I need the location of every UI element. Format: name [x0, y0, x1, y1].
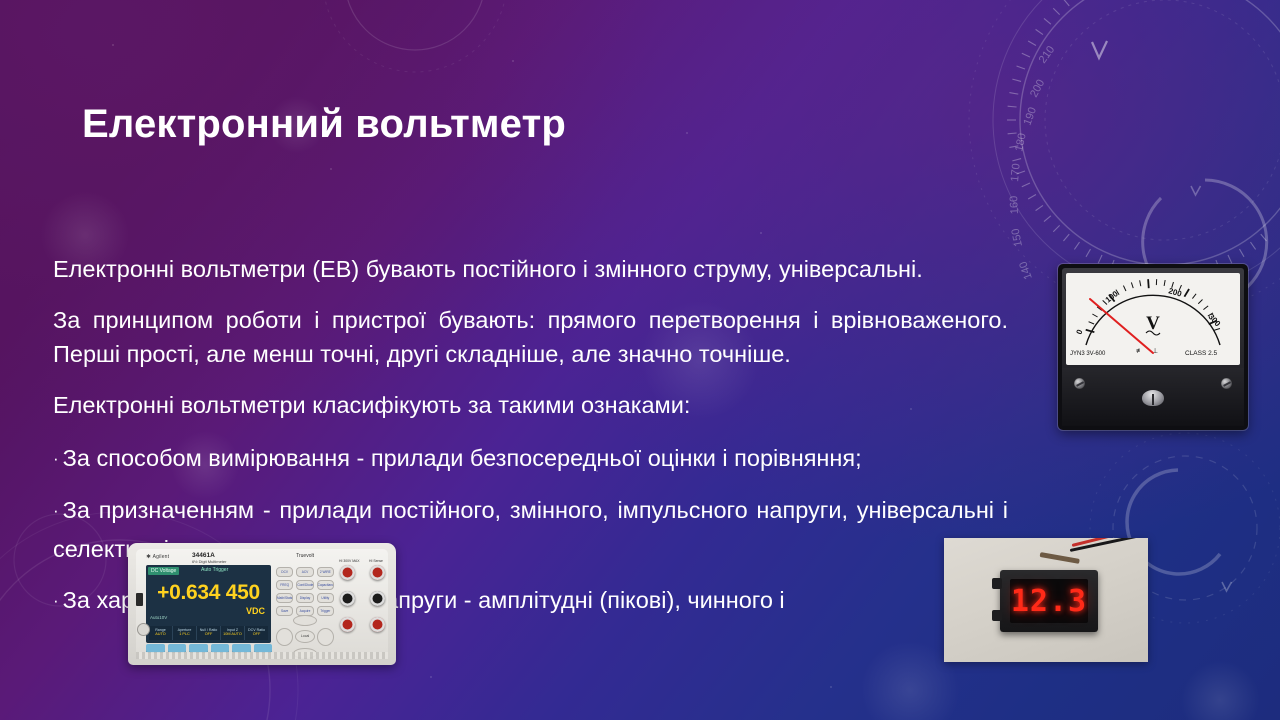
bullet-marker: ·	[53, 449, 63, 468]
terminal-hi-input	[340, 565, 355, 580]
list-item: ·За способом вимірювання - прилади безпо…	[53, 439, 1008, 478]
paragraph-3: Електронні вольтметри класифікують за та…	[53, 388, 1008, 422]
svg-text:140: 140	[1017, 260, 1035, 281]
meter-model-marking: JYN3 3V-600	[1070, 351, 1106, 357]
display-unit: VDC	[246, 606, 265, 616]
screw-right	[1221, 378, 1232, 389]
display-trigger-tab: Auto Trigger	[201, 567, 228, 573]
nav-select-button: Local	[295, 630, 315, 643]
navigation-pad: Local	[276, 615, 332, 657]
mounting-clip-top	[992, 578, 1002, 589]
svg-text:0: 0	[1075, 328, 1085, 336]
terminal-3a-current	[340, 617, 355, 632]
wire-bundle	[1040, 552, 1080, 564]
svg-text:160: 160	[1008, 196, 1021, 215]
svg-text:180: 180	[1013, 132, 1029, 152]
list-item-text: За способом вимірювання - прилади безпос…	[63, 445, 862, 471]
terminal-10a-current	[370, 617, 385, 632]
terminal-label: HI 300V MAX	[339, 559, 360, 563]
function-button: 2 WIRE	[317, 567, 334, 577]
digital-voltmeter-image: 12.3	[944, 538, 1148, 662]
presentation-slide: 200 210 190 180 170 160 150 140	[0, 0, 1280, 720]
function-button: ACV	[296, 567, 313, 577]
ventilation-slots	[136, 652, 388, 659]
status-cell: DCV Ratio OFF	[245, 626, 268, 640]
led-reading: 12.3	[1011, 584, 1087, 619]
nav-right-button	[317, 628, 334, 646]
page-title: Електронний вольтметр	[82, 101, 566, 147]
status-cell: Range AUTO	[149, 626, 173, 640]
terminal-hi-sense	[370, 565, 385, 580]
svg-text:150: 150	[1010, 227, 1025, 247]
svg-text:200: 200	[1028, 78, 1047, 100]
nav-up-button	[293, 615, 317, 626]
terminal-lo-input	[340, 591, 355, 606]
function-button: Capacitance	[317, 580, 334, 590]
status-cell: Aperture 1 PLC	[173, 626, 197, 640]
zero-adjust-knob	[1142, 390, 1164, 406]
svg-text:170: 170	[1009, 163, 1023, 182]
display-reading: +0.634 450	[150, 581, 267, 605]
function-button: Math/Stats	[276, 593, 293, 603]
terminal-label: HI Sense	[369, 559, 383, 563]
led-display-window: 12.3	[1010, 579, 1088, 623]
function-button: Cont/Diode	[296, 580, 313, 590]
svg-text:300: 300	[1207, 312, 1223, 328]
function-button-grid: DCV ACV 2 WIRE FREQ Cont/Diode Capacitan…	[276, 567, 334, 616]
terminal-lo-sense	[370, 591, 385, 606]
status-cell: Input Z 10M AUTO	[221, 626, 245, 640]
function-button: Display	[296, 593, 313, 603]
multimeter-front-panel: ∗ Agilent 34461A 6½ Digit Multimeter Tru…	[136, 549, 388, 659]
function-button: Utility	[317, 593, 334, 603]
multimeter-subtitle-label: 6½ Digit Multimeter	[192, 559, 226, 564]
bullet-marker: ·	[53, 501, 63, 520]
analog-voltmeter-image: 0 100 200 300 V ≢ ⊥ JYN3 3V-600 CLASS 2.…	[1058, 264, 1248, 430]
svg-text:210: 210	[1037, 44, 1057, 66]
input-terminal-block: HI 300V MAX HI Sense	[340, 565, 388, 637]
status-cell: Null / Ratio OFF	[197, 626, 221, 640]
multimeter-display: DC Voltage Auto Trigger +0.634 450 VDC A…	[146, 565, 271, 643]
display-mode-tab: DC Voltage	[148, 567, 179, 575]
meter-class-marking: CLASS 2.5	[1185, 350, 1218, 357]
display-range-label: Auto10V	[150, 615, 167, 620]
function-button: FREQ	[276, 580, 293, 590]
bench-multimeter-image: ∗ Agilent 34461A 6½ Digit Multimeter Tru…	[128, 543, 396, 665]
multimeter-model-label: 34461A	[192, 552, 215, 559]
meter-housing	[1062, 368, 1244, 426]
screw-left	[1074, 378, 1085, 389]
svg-text:100: 100	[1104, 289, 1120, 305]
multimeter-brand-label: ∗ Agilent	[146, 553, 169, 560]
svg-text:190: 190	[1022, 106, 1040, 127]
power-wire-black	[1070, 538, 1143, 552]
display-status-strip: Range AUTO Aperture 1 PLC Null / Ratio O…	[149, 626, 268, 640]
voltmeter-module-body: 12.3	[1000, 570, 1098, 632]
meter-dial-face: 0 100 200 300 V ≢ ⊥ JYN3 3V-600 CLASS 2.…	[1066, 273, 1240, 365]
function-button: DCV	[276, 567, 293, 577]
nav-left-button	[276, 628, 293, 646]
bullet-marker: ·	[53, 591, 63, 610]
multimeter-series-label: Truevolt	[296, 553, 314, 559]
usb-port	[136, 593, 143, 606]
power-button	[137, 623, 150, 636]
paragraph-1: Електронні вольтметри (ЕВ) бувають пості…	[53, 252, 1008, 286]
mounting-clip-bottom	[992, 610, 1002, 621]
svg-text:≢: ≢	[1136, 348, 1143, 355]
paragraph-2: За принципом роботи і пристрої бувають: …	[53, 303, 1008, 371]
meter-needle	[1090, 299, 1153, 353]
